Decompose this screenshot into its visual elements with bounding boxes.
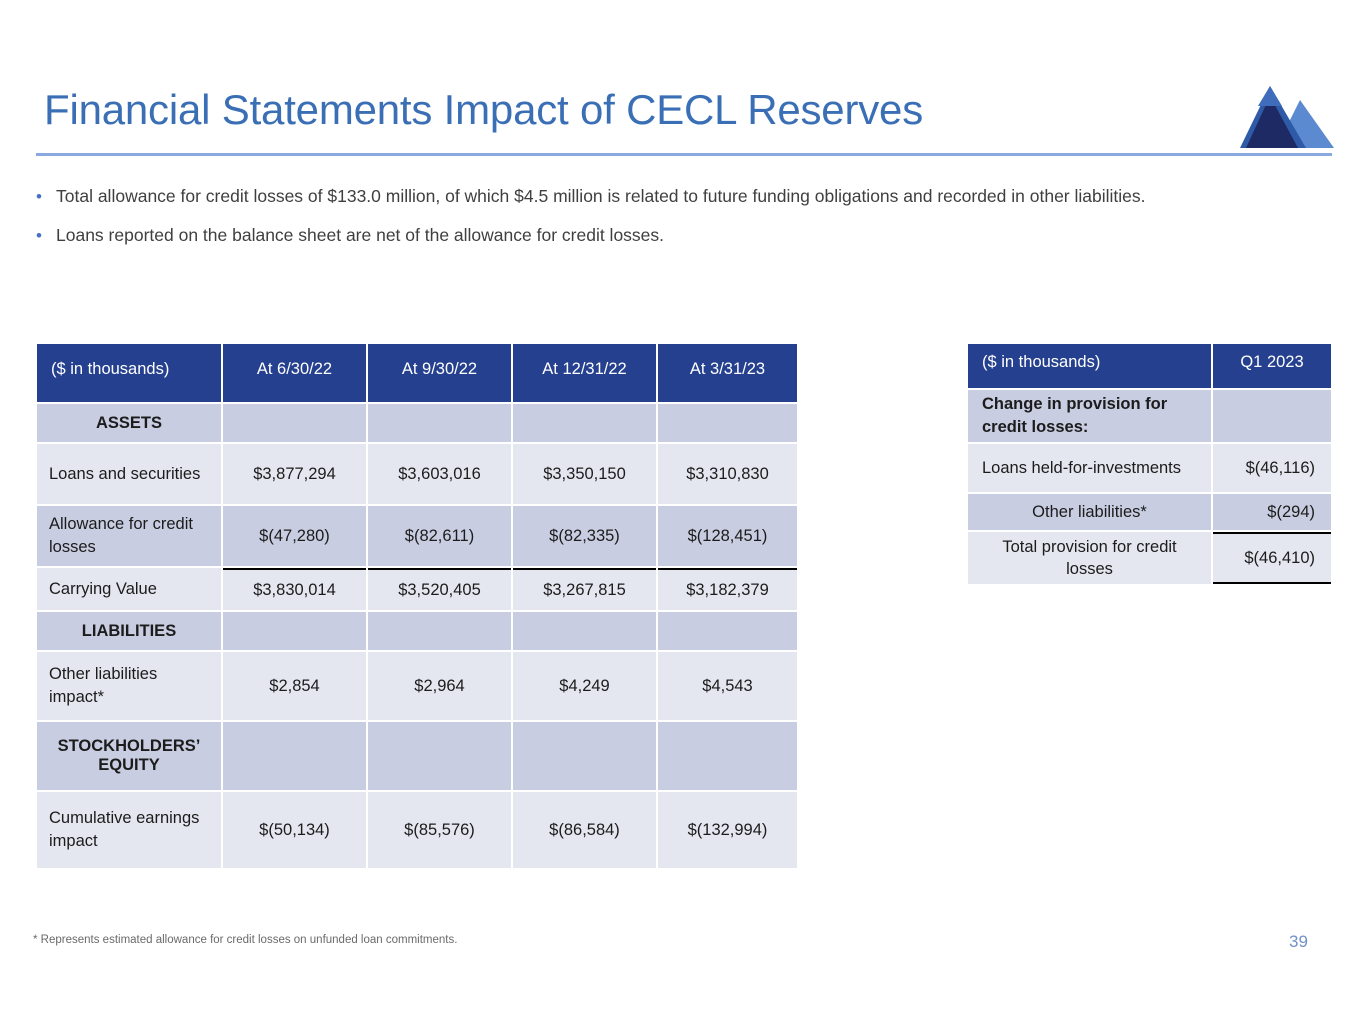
section-label: STOCKHOLDERS’ EQUITY xyxy=(37,722,221,790)
table-cell: $(86,584) xyxy=(513,792,656,868)
table-cell: $3,267,815 xyxy=(513,568,656,610)
table-cell: $3,877,294 xyxy=(223,444,366,504)
empty-cell xyxy=(368,722,511,790)
row-label: Allowance for credit losses xyxy=(37,506,221,566)
column-header: At 6/30/22 xyxy=(223,344,366,402)
provision-table: ($ in thousands) Q1 2023 Change in provi… xyxy=(966,342,1333,586)
empty-cell xyxy=(368,612,511,650)
column-header: At 12/31/22 xyxy=(513,344,656,402)
row-label: Other liabilities impact* xyxy=(37,652,221,720)
table-cell: $(294) xyxy=(1213,494,1331,530)
balance-sheet-table: ($ in thousands) At 6/30/22 At 9/30/22 A… xyxy=(35,342,799,870)
row-label: Loans held-for-investments xyxy=(968,444,1211,492)
table-cell: $4,543 xyxy=(658,652,797,720)
column-header: At 3/31/23 xyxy=(658,344,797,402)
title-divider xyxy=(36,153,1332,156)
unit-label: ($ in thousands) xyxy=(37,344,221,402)
column-header: At 9/30/22 xyxy=(368,344,511,402)
table-header-row: ($ in thousands) Q1 2023 xyxy=(968,344,1331,388)
table-row: STOCKHOLDERS’ EQUITY xyxy=(37,722,797,790)
empty-cell xyxy=(223,404,366,442)
table-row: Loans held-for-investments $(46,116) xyxy=(968,444,1331,492)
table-row-total: Total provision for credit losses $(46,4… xyxy=(968,532,1331,584)
table-cell: $3,182,379 xyxy=(658,568,797,610)
unit-label: ($ in thousands) xyxy=(968,344,1211,388)
table-header-row: ($ in thousands) At 6/30/22 At 9/30/22 A… xyxy=(37,344,797,402)
list-item: • Total allowance for credit losses of $… xyxy=(32,183,1322,210)
row-label: Cumulative earnings impact xyxy=(37,792,221,868)
table-cell: $3,520,405 xyxy=(368,568,511,610)
empty-cell xyxy=(513,722,656,790)
empty-cell xyxy=(223,722,366,790)
table-cell: $(82,335) xyxy=(513,506,656,566)
bullet-text: Total allowance for credit losses of $13… xyxy=(56,183,1322,210)
row-label: Loans and securities xyxy=(37,444,221,504)
column-header: Q1 2023 xyxy=(1213,344,1331,388)
table-row: Other liabilities impact* $2,854 $2,964 … xyxy=(37,652,797,720)
page-title: Financial Statements Impact of CECL Rese… xyxy=(44,86,923,134)
table-row: ASSETS xyxy=(37,404,797,442)
empty-cell xyxy=(658,612,797,650)
empty-cell xyxy=(1213,390,1331,442)
table-cell: $(46,410) xyxy=(1213,532,1331,584)
table-row: Other liabilities* $(294) xyxy=(968,494,1331,530)
page-number: 39 xyxy=(1289,932,1308,952)
table-cell: $3,310,830 xyxy=(658,444,797,504)
table-row: Loans and securities $3,877,294 $3,603,0… xyxy=(37,444,797,504)
table-row: Allowance for credit losses $(47,280) $(… xyxy=(37,506,797,566)
row-label: Change in provision for credit losses: xyxy=(968,390,1211,442)
section-label: LIABILITIES xyxy=(37,612,221,650)
table-cell: $3,603,016 xyxy=(368,444,511,504)
list-item: • Loans reported on the balance sheet ar… xyxy=(32,222,1322,249)
table-row: LIABILITIES xyxy=(37,612,797,650)
empty-cell xyxy=(513,612,656,650)
table-cell: $2,854 xyxy=(223,652,366,720)
empty-cell xyxy=(658,404,797,442)
table-cell: $(132,994) xyxy=(658,792,797,868)
footnote: * Represents estimated allowance for cre… xyxy=(33,934,457,946)
table-cell: $3,830,014 xyxy=(223,568,366,610)
table-row: Cumulative earnings impact $(50,134) $(8… xyxy=(37,792,797,868)
table-cell: $3,350,150 xyxy=(513,444,656,504)
table-cell: $(50,134) xyxy=(223,792,366,868)
bullet-marker-icon: • xyxy=(32,222,56,249)
bullet-list: • Total allowance for credit losses of $… xyxy=(32,183,1322,261)
table-row: Change in provision for credit losses: xyxy=(968,390,1331,442)
table-cell: $4,249 xyxy=(513,652,656,720)
table-cell: $(85,576) xyxy=(368,792,511,868)
company-logo-icon xyxy=(1236,86,1334,148)
table-cell: $(82,611) xyxy=(368,506,511,566)
table-cell: $(46,116) xyxy=(1213,444,1331,492)
table-cell: $(128,451) xyxy=(658,506,797,566)
table-row-total: Carrying Value $3,830,014 $3,520,405 $3,… xyxy=(37,568,797,610)
bullet-text: Loans reported on the balance sheet are … xyxy=(56,222,1322,249)
empty-cell xyxy=(658,722,797,790)
row-label: Other liabilities* xyxy=(968,494,1211,530)
empty-cell xyxy=(368,404,511,442)
row-label: Total provision for credit losses xyxy=(968,532,1211,584)
empty-cell xyxy=(223,612,366,650)
bullet-marker-icon: • xyxy=(32,183,56,210)
table-cell: $(47,280) xyxy=(223,506,366,566)
row-label: Carrying Value xyxy=(37,568,221,610)
empty-cell xyxy=(513,404,656,442)
section-label: ASSETS xyxy=(37,404,221,442)
table-cell: $2,964 xyxy=(368,652,511,720)
